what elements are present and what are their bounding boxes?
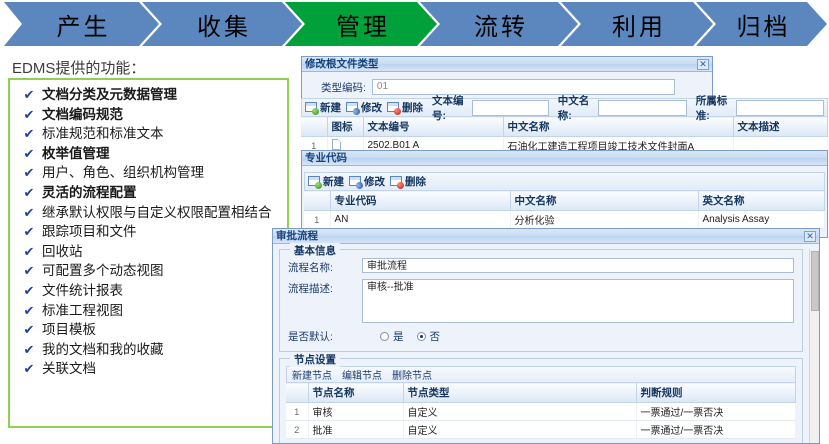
col-cn-name: 中文名称: [510, 191, 698, 211]
new-icon: [305, 102, 318, 114]
new-icon: [308, 176, 321, 188]
major-code-toolbar[interactable]: 新建 修改 删除: [304, 172, 825, 190]
check-icon: ✔: [16, 301, 42, 321]
list-item: ✔文档分类及元数据管理: [14, 85, 283, 105]
col-desc: 文本描述: [733, 117, 828, 137]
list-item-label: 我的文档和我的收藏: [42, 340, 283, 360]
list-item: ✔继承默认权限与自定义权限配置相结合: [14, 203, 283, 223]
row-node-name: 审核: [308, 403, 403, 421]
list-item-label: 标准工程视图: [42, 301, 283, 321]
edit-node-button[interactable]: 编辑节点: [342, 367, 382, 382]
cn-name-label: 中文名称:: [558, 93, 593, 123]
banner-step-label: 归档: [737, 7, 791, 42]
window-file-type-titlebar[interactable]: 修改根文件类型 ✕: [302, 57, 712, 72]
col-rownum: [301, 117, 327, 137]
radio-no-label: 否: [430, 329, 441, 344]
col-icon: 图标: [327, 117, 363, 137]
flow-default-label: 是否默认:: [288, 327, 362, 344]
window-title: 修改根文件类型: [305, 57, 379, 72]
node-settings-toolbar[interactable]: 新建节点 编辑节点 删除节点: [286, 366, 796, 382]
list-item-label: 关联文档: [42, 359, 283, 379]
list-item: ✔标准规范和标准文本: [14, 124, 283, 144]
cn-name-input[interactable]: [598, 100, 687, 116]
check-icon: ✔: [16, 163, 42, 183]
new-button-label: 新建: [323, 174, 344, 189]
list-item: ✔用户、角色、组织机构管理: [14, 163, 283, 183]
row-number: 1: [286, 403, 308, 421]
flow-name-row: 流程名称: 审批流程: [288, 258, 794, 275]
basic-info-legend: 基本信息: [290, 243, 340, 258]
radio-yes-dot[interactable]: [380, 332, 389, 341]
flow-name-input[interactable]: 审批流程: [362, 258, 794, 273]
list-item-label: 文档编码规范: [42, 105, 283, 125]
list-item: ✔回收站: [14, 242, 283, 262]
banner-step-label: 利用: [612, 7, 666, 42]
banner-step-1[interactable]: 收集: [142, 2, 302, 46]
list-item-label: 跟踪项目和文件: [42, 222, 283, 242]
col-major-code: 专业代码: [330, 191, 510, 211]
file-type-grid-region: 新建 修改 删除 文本编号: 中文名称: 所属标准: 图标 文本编号: [301, 98, 828, 155]
scrollbar-thumb[interactable]: [811, 251, 819, 311]
edms-caption: EDMS提供的功能：: [12, 57, 145, 78]
window-approval-flow[interactable]: 审批流程 ✕ 基本信息 流程名称: 审批流程 流程描述: 审核--批准 是否默认…: [272, 228, 820, 444]
list-item: ✔我的文档和我的收藏: [14, 340, 283, 360]
check-icon: ✔: [16, 124, 42, 144]
vertical-scrollbar[interactable]: [809, 249, 819, 444]
banner-step-5[interactable]: 归档: [696, 2, 827, 46]
row-node-rule: 一票通过/一票否决: [636, 421, 796, 439]
row-major-code: AN: [330, 211, 510, 229]
edit-button-label: 修改: [361, 100, 382, 115]
radio-yes-label: 是: [393, 329, 404, 344]
node-settings-legend: 节点设置: [290, 352, 340, 367]
row-node-rule: 一票通过/一票否决: [636, 403, 796, 421]
edit-button[interactable]: 修改: [349, 174, 385, 189]
col-node-type: 节点类型: [403, 383, 636, 403]
type-code-row: 类型编码: 01: [307, 78, 707, 96]
list-item-label: 项目模板: [42, 320, 283, 340]
flow-name-label: 流程名称:: [288, 258, 362, 275]
banner-step-3[interactable]: 流转: [420, 2, 578, 46]
window-title: 审批流程: [276, 229, 318, 244]
major-code-grid[interactable]: 专业代码 中文名称 英文名称 1 AN 分析化验 Analysis Assay: [304, 190, 825, 229]
basic-info-fieldset: 基本信息 流程名称: 审批流程 流程描述: 审核--批准 是否默认: 是 否: [279, 249, 803, 352]
radio-no-dot[interactable]: [417, 332, 426, 341]
node-settings-fieldset: 节点设置 新建节点 编辑节点 删除节点 节点名称 节点类型 判断规则 1审核自定…: [279, 358, 803, 444]
delete-icon: [390, 176, 403, 188]
edit-icon: [346, 102, 359, 114]
flow-desc-label: 流程描述:: [288, 279, 362, 296]
radio-yes[interactable]: 是: [380, 329, 404, 344]
flow-default-row: 是否默认: 是 否: [288, 327, 794, 344]
table-row[interactable]: 1审核自定义一票通过/一票否决: [286, 403, 796, 421]
list-item-label: 回收站: [42, 242, 283, 262]
delete-button[interactable]: 删除: [390, 174, 426, 189]
row-node-type: 自定义: [403, 403, 636, 421]
row-node-type: 自定义: [403, 421, 636, 439]
new-button-label: 新建: [320, 100, 341, 115]
process-step-banner: 产生 收集 管理 流转 利用 归档: [0, 2, 829, 48]
feature-list: ✔文档分类及元数据管理✔文档编码规范✔标准规范和标准文本✔枚举值管理✔用户、角色…: [14, 85, 283, 379]
new-button[interactable]: 新建: [308, 174, 344, 189]
flow-default-radios[interactable]: 是 否: [362, 327, 440, 344]
banner-step-4[interactable]: 利用: [561, 2, 713, 46]
window-major-code-body: 新建 修改 删除 专业代码 中文名称 英文名称: [302, 166, 827, 229]
list-item: ✔可配置多个动态视图: [14, 261, 283, 281]
list-item-label: 可配置多个动态视图: [42, 261, 283, 281]
window-approval-flow-body: 基本信息 流程名称: 审批流程 流程描述: 审核--批准 是否默认: 是 否: [273, 249, 819, 444]
row-cn-name: 分析化验: [510, 211, 698, 229]
check-icon: ✔: [16, 203, 42, 223]
window-approval-flow-titlebar[interactable]: 审批流程 ✕: [273, 229, 819, 244]
list-item-label: 用户、角色、组织机构管理: [42, 163, 283, 183]
banner-step-label: 管理: [336, 7, 390, 42]
row-number: 2: [286, 421, 308, 439]
banner-step-label: 流转: [474, 7, 528, 42]
type-code-label: 类型编码:: [321, 80, 366, 95]
node-grid-header: 节点名称 节点类型 判断规则: [286, 383, 796, 403]
close-icon[interactable]: ✕: [804, 231, 816, 242]
delete-icon: [387, 102, 400, 114]
delete-button-label: 删除: [405, 174, 426, 189]
list-item: ✔跟踪项目和文件: [14, 222, 283, 242]
screenshot-root: 产生 收集 管理 流转 利用 归档 EDMS提供的功能： ✔文档分类及元数据管理…: [0, 0, 829, 444]
list-item: ✔灵活的流程配置: [14, 183, 283, 203]
check-icon: ✔: [16, 242, 42, 262]
list-item: ✔文档编码规范: [14, 105, 283, 125]
flow-desc-row: 流程描述: 审核--批准: [288, 279, 794, 323]
list-item: ✔关联文档: [14, 359, 283, 379]
file-type-toolbar[interactable]: 新建 修改 删除 文本编号: 中文名称: 所属标准:: [301, 98, 828, 116]
row-number: 1: [304, 211, 330, 229]
check-icon: ✔: [16, 144, 42, 164]
list-item-label: 灵活的流程配置: [42, 183, 283, 203]
check-icon: ✔: [16, 183, 42, 203]
standard-input[interactable]: [736, 100, 824, 116]
major-code-grid-header: 专业代码 中文名称 英文名称: [304, 191, 825, 211]
check-icon: ✔: [16, 320, 42, 340]
window-major-code-titlebar[interactable]: 专业代码: [302, 151, 827, 166]
text-no-label: 文本编号:: [432, 93, 467, 123]
list-item: ✔枚举值管理: [14, 144, 283, 164]
check-icon: ✔: [16, 281, 42, 301]
row-en-name: Analysis Assay: [698, 211, 825, 229]
list-item-label: 文件统计报表: [42, 281, 283, 301]
banner-step-label: 收集: [197, 7, 251, 42]
edit-icon: [349, 176, 362, 188]
col-rownum: [286, 383, 308, 403]
edit-button[interactable]: 修改: [346, 100, 382, 115]
node-settings-grid[interactable]: 节点名称 节点类型 判断规则 1审核自定义一票通过/一票否决2批准自定义一票通过…: [286, 382, 796, 439]
col-en-name: 英文名称: [698, 191, 825, 211]
text-no-input[interactable]: [472, 100, 549, 116]
list-item-label: 继承默认权限与自定义权限配置相结合: [42, 203, 283, 223]
radio-no[interactable]: 否: [417, 329, 441, 344]
type-code-input[interactable]: 01: [372, 79, 675, 95]
close-icon[interactable]: ✕: [697, 59, 709, 70]
document-icon: [332, 139, 341, 150]
new-node-button[interactable]: 新建节点: [292, 367, 332, 382]
banner-step-label: 产生: [57, 7, 111, 42]
delete-button[interactable]: 删除: [387, 100, 423, 115]
list-item: ✔文件统计报表: [14, 281, 283, 301]
new-button[interactable]: 新建: [305, 100, 341, 115]
table-row[interactable]: 1 AN 分析化验 Analysis Assay: [304, 211, 825, 229]
delete-node-button[interactable]: 删除节点: [392, 367, 432, 382]
table-row[interactable]: 2批准自定义一票通过/一票否决: [286, 421, 796, 439]
standard-label: 所属标准:: [696, 93, 731, 123]
check-icon: ✔: [16, 340, 42, 360]
delete-button-label: 删除: [402, 100, 423, 115]
check-icon: ✔: [16, 359, 42, 379]
col-node-name: 节点名称: [308, 383, 403, 403]
col-rownum: [304, 191, 330, 211]
window-title: 专业代码: [305, 151, 347, 166]
list-item: ✔标准工程视图: [14, 301, 283, 321]
list-item-label: 枚举值管理: [42, 144, 283, 164]
col-node-rule: 判断规则: [636, 383, 796, 403]
list-item-label: 文档分类及元数据管理: [42, 85, 283, 105]
list-item: ✔项目模板: [14, 320, 283, 340]
feature-list-box: ✔文档分类及元数据管理✔文档编码规范✔标准规范和标准文本✔枚举值管理✔用户、角色…: [8, 78, 289, 428]
banner-step-0[interactable]: 产生: [4, 2, 159, 46]
window-major-code[interactable]: 专业代码 新建 修改 删除: [301, 150, 828, 238]
check-icon: ✔: [16, 85, 42, 105]
check-icon: ✔: [16, 222, 42, 242]
flow-desc-textarea[interactable]: 审核--批准: [362, 279, 794, 323]
banner-step-2[interactable]: 管理: [285, 2, 437, 46]
check-icon: ✔: [16, 105, 42, 125]
edit-button-label: 修改: [364, 174, 385, 189]
list-item-label: 标准规范和标准文本: [42, 124, 283, 144]
row-node-name: 批准: [308, 421, 403, 439]
check-icon: ✔: [16, 261, 42, 281]
